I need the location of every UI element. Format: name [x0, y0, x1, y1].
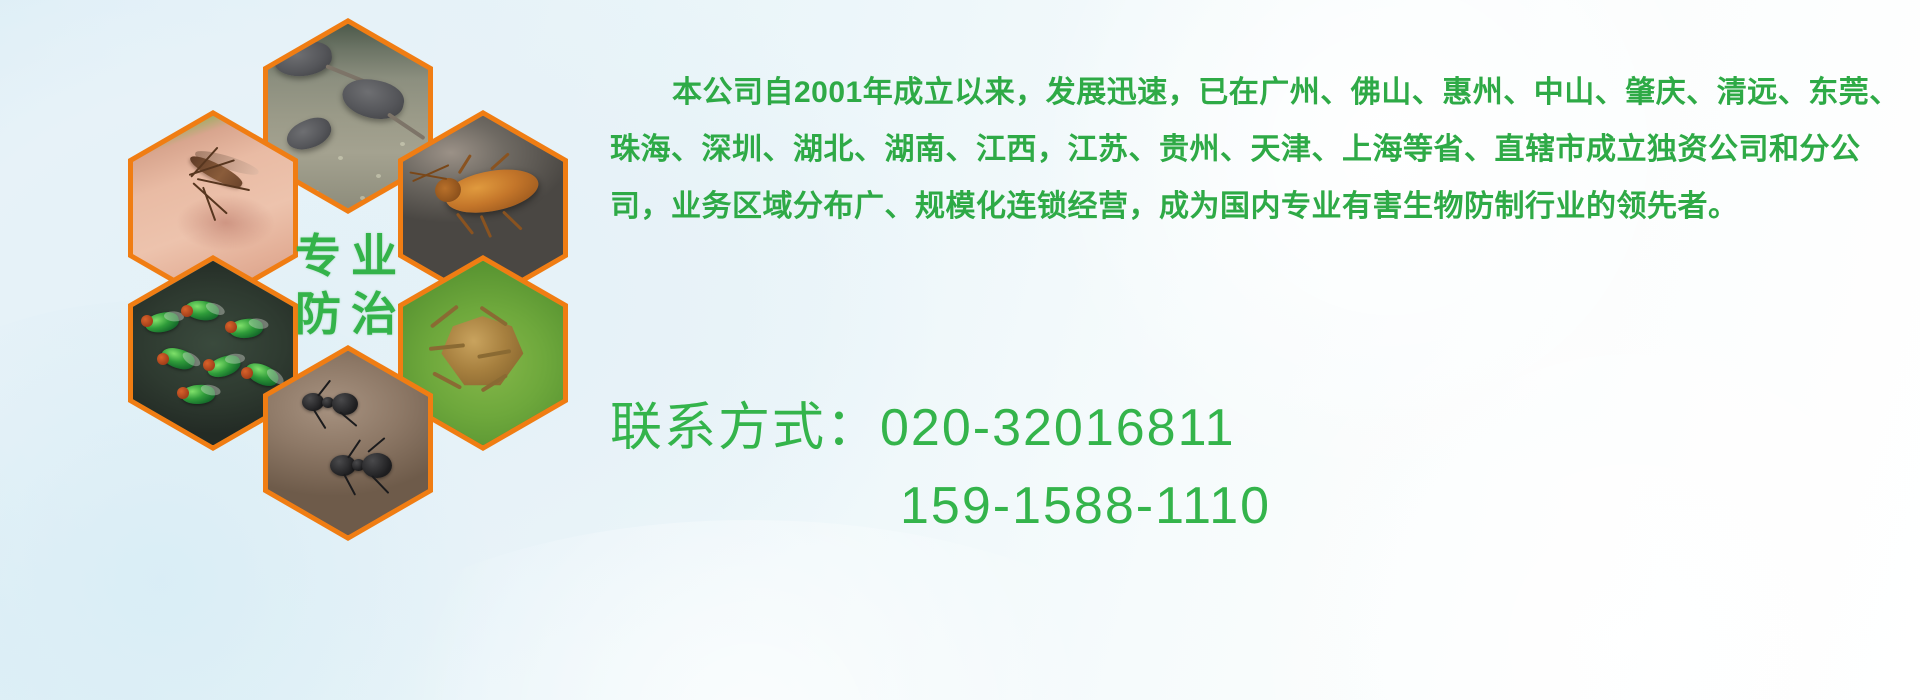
- slogan-block: 专业 防治: [255, 180, 437, 390]
- contact-phone-secondary[interactable]: 159-1588-1110: [610, 467, 1900, 545]
- company-intro-paragraph: 本公司自2001年成立以来，发展迅速，已在广州、佛山、惠州、中山、肇庆、清远、东…: [610, 64, 1900, 235]
- contact-phone-primary[interactable]: 联系方式：020-32016811: [610, 389, 1900, 467]
- slogan-line-1: 专业: [285, 233, 407, 279]
- slogan-line-2: 防治: [285, 291, 407, 337]
- pest-control-banner: 专业 防治 本公司自2001年成立以来，发展迅速，已在广州、佛山、惠州、中山、肇…: [0, 0, 1920, 700]
- contact-block: 联系方式：020-32016811 159-1588-1110: [610, 389, 1900, 545]
- banner-text-column: 本公司自2001年成立以来，发展迅速，已在广州、佛山、惠州、中山、肇庆、清远、东…: [610, 34, 1910, 265]
- hexagon-photo-cluster: 专业 防治: [95, 0, 595, 580]
